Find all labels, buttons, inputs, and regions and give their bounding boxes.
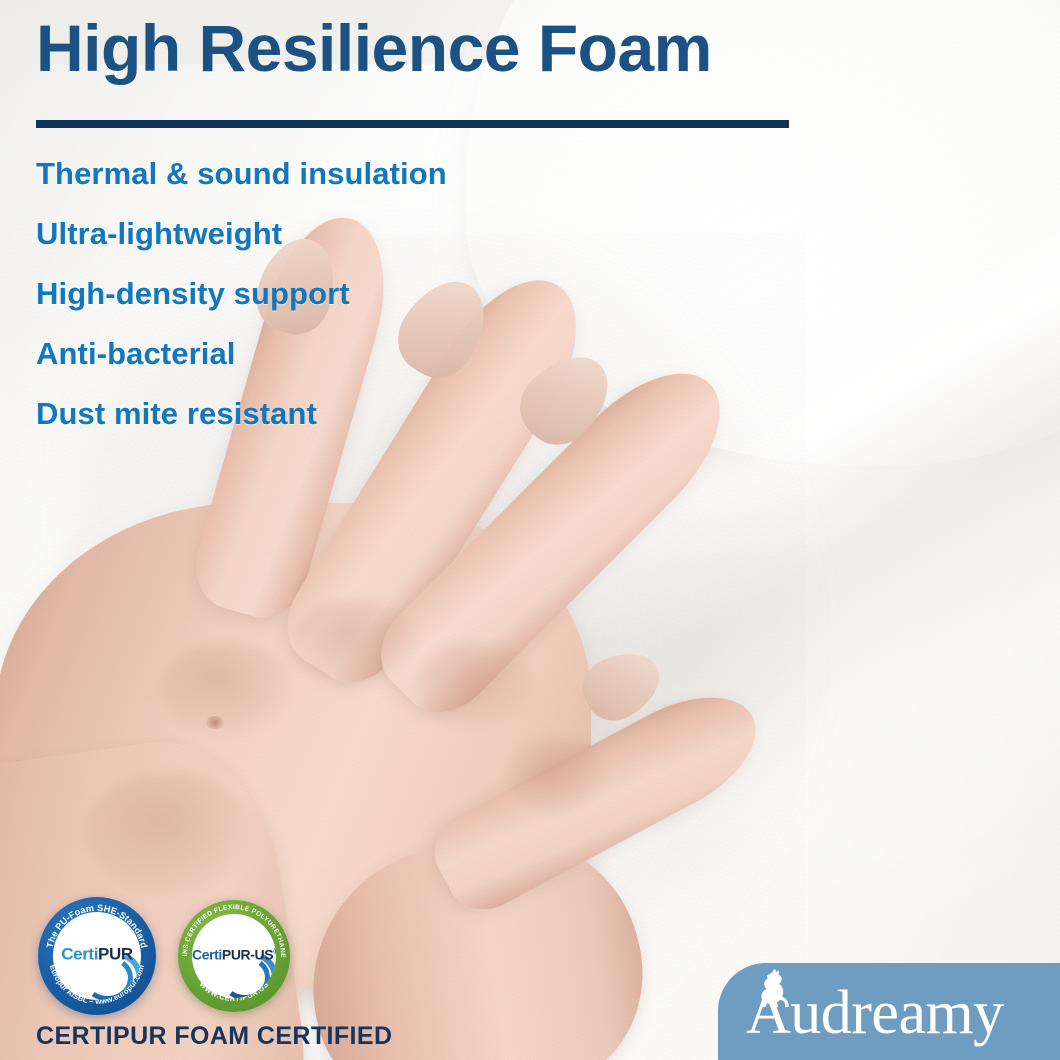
- feature-item-dust-mite-resistant: Dust mite resistant: [36, 398, 656, 429]
- title-divider: [36, 120, 789, 128]
- brand-lockup: Audreamy: [746, 963, 1004, 1060]
- page-title: High Resilience Foam: [36, 12, 712, 86]
- certipur-us-wordmark: CertiPUR-US®: [192, 947, 276, 963]
- wordmark-certi: Certi: [192, 947, 222, 963]
- certipur-europe-wordmark: CertiPUR: [53, 944, 141, 964]
- wordmark-pur-us: PUR-US: [222, 947, 273, 963]
- feature-list: Thermal & sound insulation Ultra-lightwe…: [36, 158, 656, 458]
- wordmark-certi: Certi: [61, 944, 98, 963]
- kangaroo-icon: [760, 969, 802, 1013]
- feature-item-ultra-lightweight: Ultra-lightweight: [36, 218, 656, 249]
- feature-item-anti-bacterial: Anti-bacterial: [36, 338, 656, 369]
- registered-mark-icon: ®: [273, 947, 276, 956]
- brand-panel: Audreamy: [718, 963, 1060, 1060]
- certipur-us-badge: CONTAINS CERTIFIED FLEXIBLE POLYURETHANE…: [178, 900, 290, 1012]
- wordmark-pur: PUR: [98, 944, 133, 963]
- feature-item-high-density-support: High-density support: [36, 278, 656, 309]
- certification-badges: The PU-Foam SHE-Standard Europur AISBL –…: [38, 897, 290, 1015]
- feature-item-thermal-sound-insulation: Thermal & sound insulation: [36, 158, 656, 189]
- certipur-europe-badge: The PU-Foam SHE-Standard Europur AISBL –…: [38, 897, 156, 1015]
- certipur-us-badge-face: CertiPUR-US®: [192, 914, 276, 998]
- product-feature-poster: High Resilience Foam Thermal & sound ins…: [0, 0, 1060, 1060]
- certification-caption: CERTIPUR FOAM CERTIFIED: [36, 1022, 392, 1051]
- certipur-europe-badge-face: CertiPUR: [53, 912, 141, 1000]
